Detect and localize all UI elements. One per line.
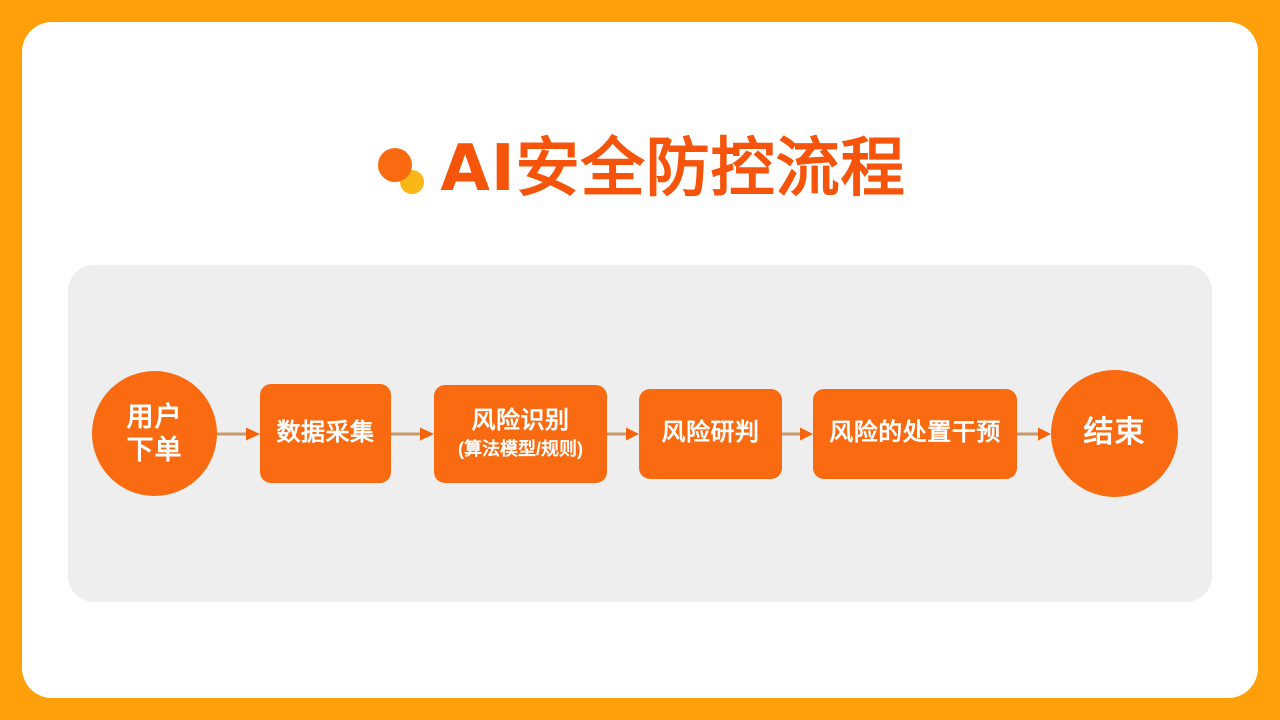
flow-node-end[interactable]: 结束 [1051, 370, 1178, 497]
page-title-text: AI安全防控流程 [440, 137, 905, 201]
flow-node-end-label: 结束 [1084, 415, 1146, 452]
flow-node-start[interactable]: 用户 下单 [92, 371, 217, 496]
flow-node-step-3[interactable]: 风险研判 [639, 389, 782, 479]
flow-row: 用户 下单 数据采集 [68, 265, 1212, 602]
arrow-right-icon [217, 426, 260, 442]
flow-connector-3 [607, 426, 639, 442]
flow-connector-4 [782, 426, 813, 442]
decorative-dots-icon [374, 144, 430, 200]
flow-connector-1 [217, 426, 260, 442]
page-title: AI安全防控流程 [22, 114, 1258, 224]
flow-node-step-1-line1: 数据采集 [277, 419, 375, 448]
arrow-right-icon [1017, 426, 1051, 442]
flow-node-step-2[interactable]: 风险识别 (算法模型/规则) [434, 385, 607, 483]
flow-node-step-1[interactable]: 数据采集 [260, 384, 391, 483]
flow-node-step-4-line1: 风险的处置干预 [829, 419, 1001, 448]
flow-node-start-line1: 用户 [127, 401, 183, 434]
flow-node-step-3-line1: 风险研判 [662, 419, 760, 448]
flow-node-step-2-line1: 风险识别 [472, 407, 570, 436]
slide-inner-panel: AI安全防控流程 用户 下单 数据采集 [22, 22, 1258, 698]
arrow-right-icon [607, 426, 639, 442]
flow-node-start-line2: 下单 [127, 434, 183, 467]
slide-root: AI安全防控流程 用户 下单 数据采集 [0, 0, 1280, 720]
flow-connector-5 [1017, 426, 1051, 442]
flow-node-step-2-line2: (算法模型/规则) [458, 438, 583, 461]
flow-node-step-4[interactable]: 风险的处置干预 [813, 389, 1017, 479]
flow-connector-2 [391, 426, 434, 442]
arrow-right-icon [391, 426, 434, 442]
arrow-right-icon [782, 426, 813, 442]
flow-diagram-panel: 用户 下单 数据采集 [68, 265, 1212, 602]
